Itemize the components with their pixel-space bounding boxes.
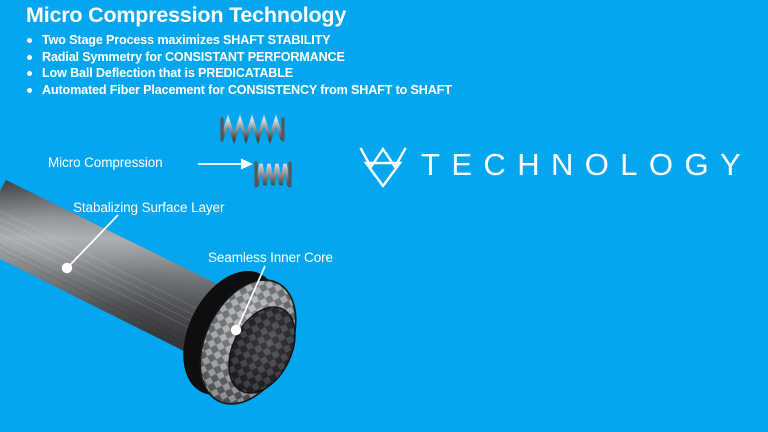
bullet-text: Two Stage Process maximizes SHAFT STABIL… [42,33,330,47]
feature-bullet-list: Two Stage Process maximizes SHAFT STABIL… [26,32,726,98]
callout-label-seamless-inner-core: Seamless Inner Core [208,250,333,265]
bullet-text: Automated Fiber Placement for CONSISTENC… [42,83,452,97]
bullet-dot-icon [27,71,32,76]
list-item: Automated Fiber Placement for CONSISTENC… [26,82,726,99]
bullet-text: Radial Symmetry for CONSISTANT PERFORMAN… [42,50,345,64]
spring-compression-diagram [200,113,315,195]
relaxed-spring [222,120,282,139]
brand-wordmark: TECHNOLOGY [421,140,752,190]
bullet-dot-icon [27,38,32,43]
list-item: Two Stage Process maximizes SHAFT STABIL… [26,32,726,49]
carbon-fiber-shaft-cutaway [0,178,768,432]
bullet-dot-icon [27,88,32,93]
slide-canvas: Micro Compression Technology Two Stage P… [0,0,768,432]
page-title: Micro Compression Technology [26,2,726,28]
micro-compression-label: Micro Compression [48,155,163,170]
list-item: Low Ball Deflection that is PREDICATABLE [26,65,726,82]
list-item: Radial Symmetry for CONSISTANT PERFORMAN… [26,49,726,66]
callout-label-stabalizing-surface-layer: Stabalizing Surface Layer [73,200,224,215]
w-triangle-logo-icon [358,143,408,189]
bullet-text: Low Ball Deflection that is PREDICATABLE [42,66,293,80]
headline-block: Micro Compression Technology Two Stage P… [26,2,726,98]
brand-lockup: TECHNOLOGY [358,140,760,196]
compressed-spring [257,164,289,185]
bullet-dot-icon [27,55,32,60]
